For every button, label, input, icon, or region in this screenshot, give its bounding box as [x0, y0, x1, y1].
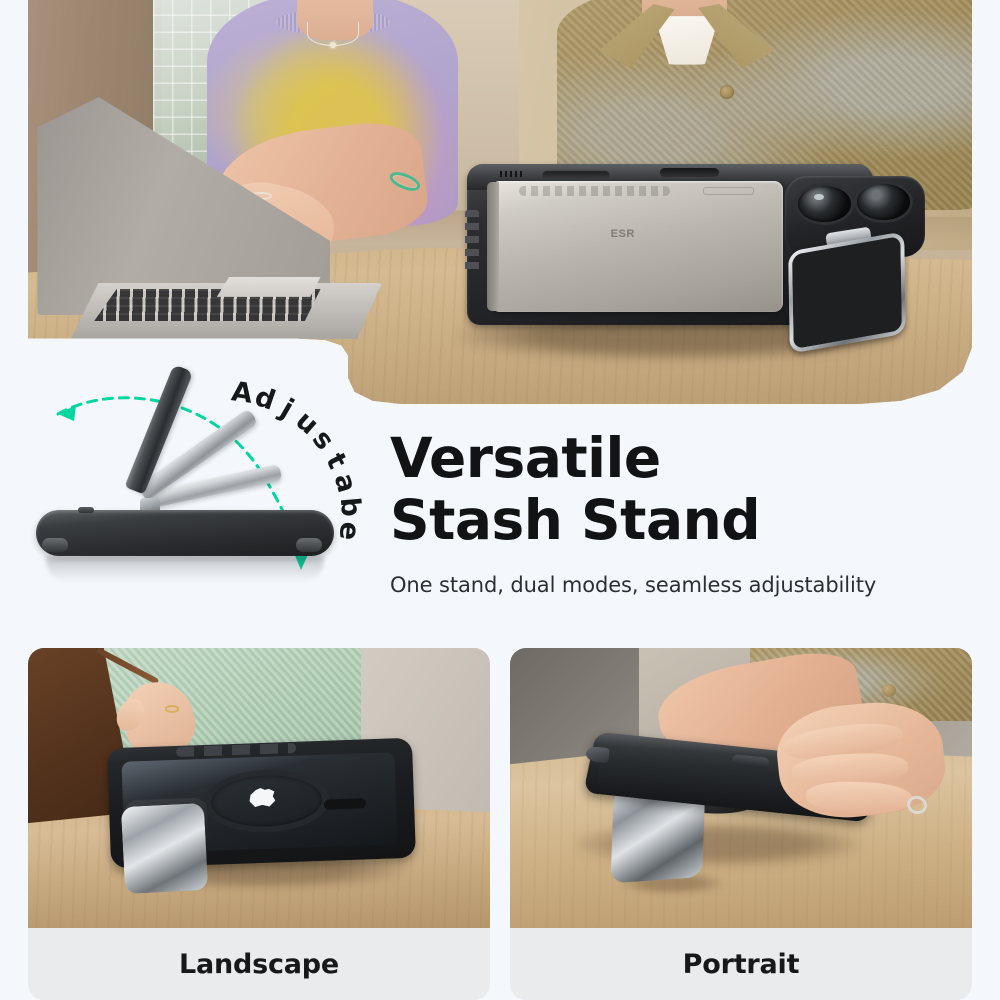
cardigan-button: [720, 85, 734, 99]
landscape-photo: [28, 648, 490, 928]
case-top-slot: [542, 170, 610, 179]
esr-power-bank: [491, 181, 784, 312]
cardigan-button: [882, 684, 896, 697]
adjustable-label-letter: a: [328, 470, 363, 496]
landscape-caption: Landscape: [28, 928, 490, 1000]
adjustable-stand-illustration: Adjustabe: [18, 388, 374, 604]
power-bank-left-edge: [487, 182, 499, 311]
hero-image-clip: ESR: [28, 0, 972, 404]
case-side-buttons: [465, 210, 479, 275]
stand-base-reflection: [46, 556, 324, 582]
product-feature-page: ESR Adjustabe Versatile: [0, 0, 1000, 1000]
hero-image-panel: ESR: [28, 0, 972, 404]
landscape-mode-card: Landscape: [28, 648, 490, 1000]
title-line-1: Versatile: [390, 426, 661, 490]
landscape-speaker-cutout: [324, 798, 366, 809]
portrait-caption: Portrait: [510, 928, 972, 1000]
stand-base-notch-left: [42, 538, 68, 552]
laptop-trackpad: [217, 277, 321, 297]
headline-block: Versatile Stash Stand One stand, dual mo…: [390, 428, 990, 597]
adjustable-label-letter: t: [320, 448, 353, 474]
case-top-button: [660, 168, 719, 176]
title-line-2: Stash Stand: [390, 488, 760, 552]
power-bank-cert-mark: [703, 187, 754, 195]
gold-ring: [165, 705, 179, 712]
adjustable-label-letter: e: [333, 520, 366, 541]
adjustable-label-letter: A: [229, 376, 254, 410]
adjustable-label: Adjustabe: [216, 390, 376, 530]
camera-lens: [857, 184, 910, 220]
stand-base-notch-right: [296, 538, 322, 552]
adjustable-label-letter: b: [333, 496, 366, 518]
kickstand-loop: [120, 803, 208, 894]
camera-lens: [798, 186, 851, 222]
esr-logo: ESR: [599, 228, 646, 240]
case-vent-holes: [500, 171, 522, 177]
stand-base-button: [78, 507, 94, 513]
power-bank-spec-print: [519, 186, 670, 197]
page-title: Versatile Stash Stand: [390, 428, 990, 551]
kickstand-loop: [788, 232, 906, 355]
portrait-mode-card: Portrait: [510, 648, 972, 1000]
portrait-photo: [510, 648, 972, 928]
page-subtitle: One stand, dual modes, seamless adjustab…: [390, 573, 990, 597]
